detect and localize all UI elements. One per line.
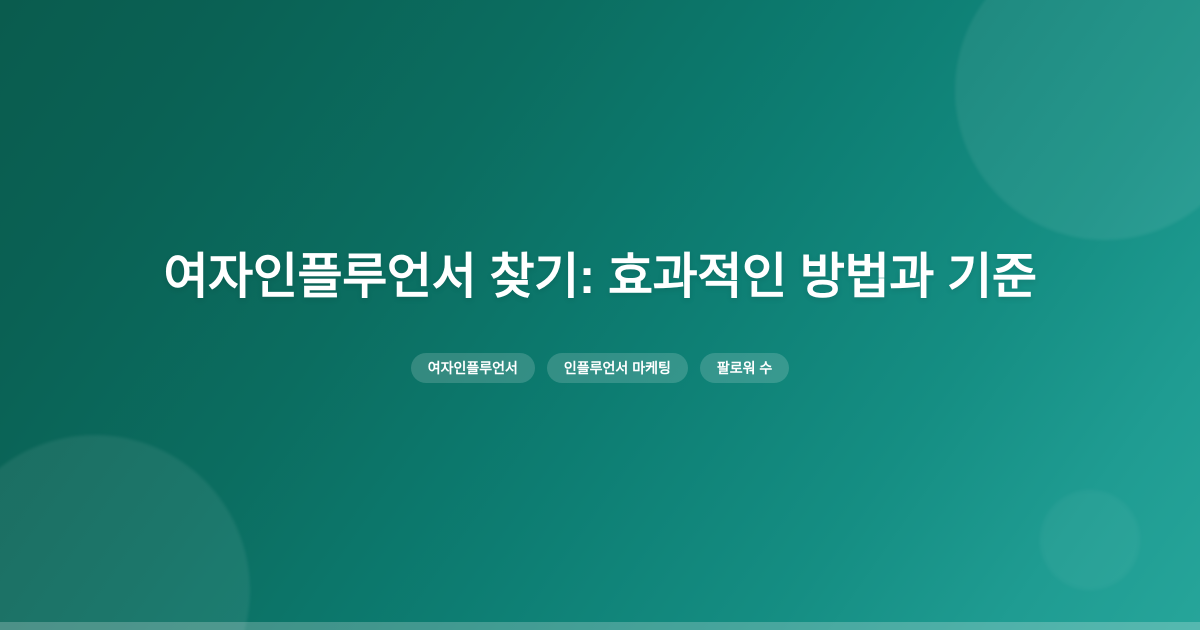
tag-pill-3[interactable]: 팔로워 수	[700, 353, 789, 383]
page-title: 여자인플루언서 찾기: 효과적인 방법과 기준	[163, 247, 1036, 309]
tag-list: 여자인플루언서 인플루언서 마케팅 팔로워 수	[411, 353, 790, 383]
card-content: 여자인플루언서 찾기: 효과적인 방법과 기준 여자인플루언서 인플루언서 마케…	[0, 0, 1200, 630]
tag-pill-1[interactable]: 여자인플루언서	[411, 353, 535, 383]
tag-pill-2[interactable]: 인플루언서 마케팅	[547, 353, 688, 383]
og-image-card: 여자인플루언서 찾기: 효과적인 방법과 기준 여자인플루언서 인플루언서 마케…	[0, 0, 1200, 630]
